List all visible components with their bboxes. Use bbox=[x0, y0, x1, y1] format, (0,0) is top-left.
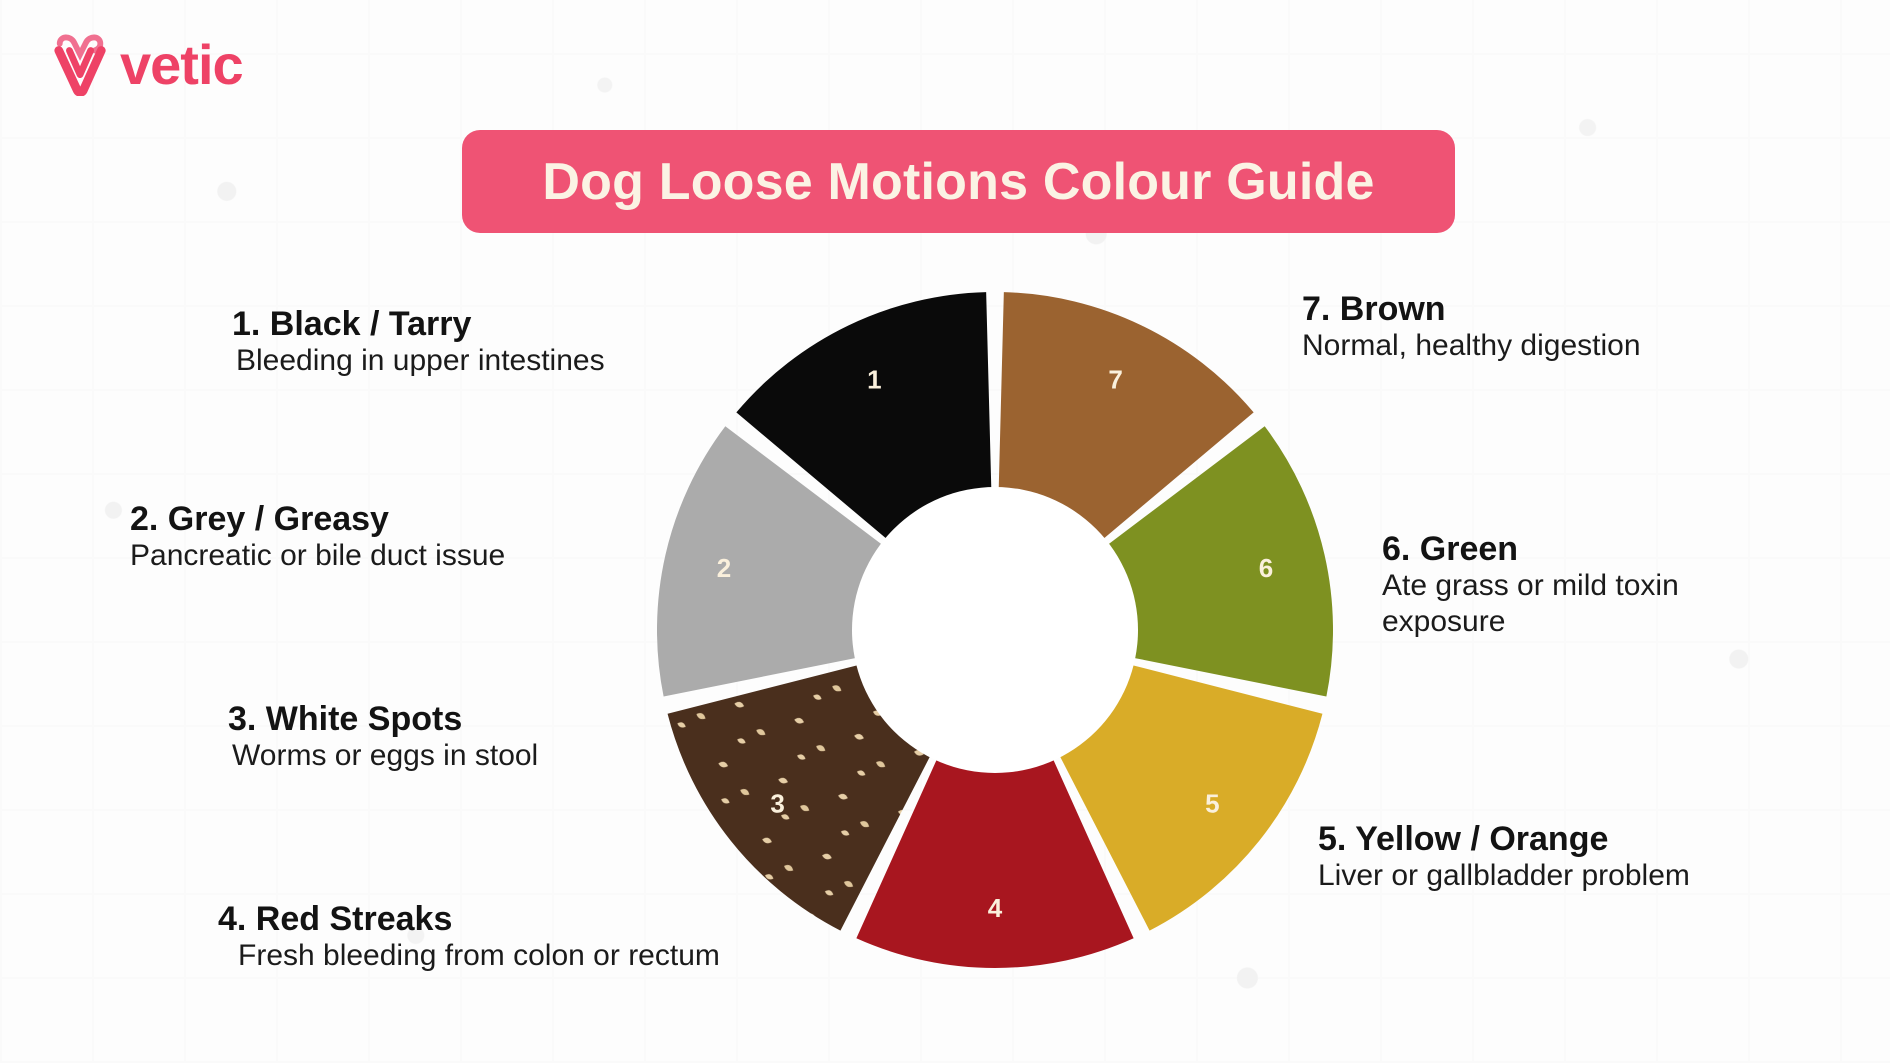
donut-segment-label-2: 2 bbox=[717, 553, 731, 583]
page-title: Dog Loose Motions Colour Guide bbox=[542, 152, 1374, 212]
donut-segment-label-6: 6 bbox=[1259, 553, 1273, 583]
legend-item-description: Ate grass or mild toxin exposure bbox=[1382, 568, 1802, 640]
legend-item-title: 6. Green bbox=[1382, 530, 1802, 568]
legend-item-description: Worms or eggs in stool bbox=[232, 738, 538, 774]
legend-item-title: 7. Brown bbox=[1302, 290, 1641, 328]
legend-item-description: Bleeding in upper intestines bbox=[236, 343, 605, 379]
donut-segment-label-7: 7 bbox=[1108, 365, 1122, 395]
legend-item-description: Pancreatic or bile duct issue bbox=[130, 538, 505, 574]
donut-chart-svg: 7654321 bbox=[645, 280, 1345, 980]
legend-item-description: Liver or gallbladder problem bbox=[1318, 858, 1748, 894]
legend-item-yellow-orange[interactable]: 5. Yellow / Orange Liver or gallbladder … bbox=[1318, 820, 1748, 894]
donut-segment-label-4: 4 bbox=[988, 893, 1003, 923]
donut-center-hole bbox=[852, 487, 1138, 773]
brand-wordmark: vetic bbox=[120, 37, 243, 93]
donut-chart: 7654321 bbox=[645, 280, 1345, 980]
legend-item-white-spots[interactable]: 3. White Spots Worms or eggs in stool bbox=[228, 700, 538, 774]
legend-item-green[interactable]: 6. Green Ate grass or mild toxin exposur… bbox=[1382, 530, 1802, 640]
donut-segment-label-5: 5 bbox=[1205, 788, 1219, 818]
heart-v-logo-icon bbox=[52, 34, 110, 96]
brand-logo[interactable]: vetic bbox=[52, 34, 243, 96]
infographic-page: vetic Dog Loose Motions Colour Guide 765… bbox=[0, 0, 1890, 1063]
legend-item-title: 3. White Spots bbox=[228, 700, 538, 738]
legend-item-black-tarry[interactable]: 1. Black / Tarry Bleeding in upper intes… bbox=[232, 305, 605, 379]
legend-item-title: 2. Grey / Greasy bbox=[130, 500, 505, 538]
legend-item-red-streaks[interactable]: 4. Red Streaks Fresh bleeding from colon… bbox=[218, 900, 720, 974]
donut-segment-label-1: 1 bbox=[867, 365, 881, 395]
legend-item-description: Fresh bleeding from colon or rectum bbox=[238, 938, 720, 974]
legend-item-description: Normal, healthy digestion bbox=[1302, 328, 1641, 364]
legend-item-brown[interactable]: 7. Brown Normal, healthy digestion bbox=[1302, 290, 1641, 364]
legend-item-grey-greasy[interactable]: 2. Grey / Greasy Pancreatic or bile duct… bbox=[130, 500, 505, 574]
legend-item-title: 5. Yellow / Orange bbox=[1318, 820, 1748, 858]
donut-segment-label-3: 3 bbox=[770, 788, 784, 818]
title-banner: Dog Loose Motions Colour Guide bbox=[462, 130, 1455, 233]
legend-item-title: 4. Red Streaks bbox=[218, 900, 720, 938]
legend-item-title: 1. Black / Tarry bbox=[232, 305, 605, 343]
